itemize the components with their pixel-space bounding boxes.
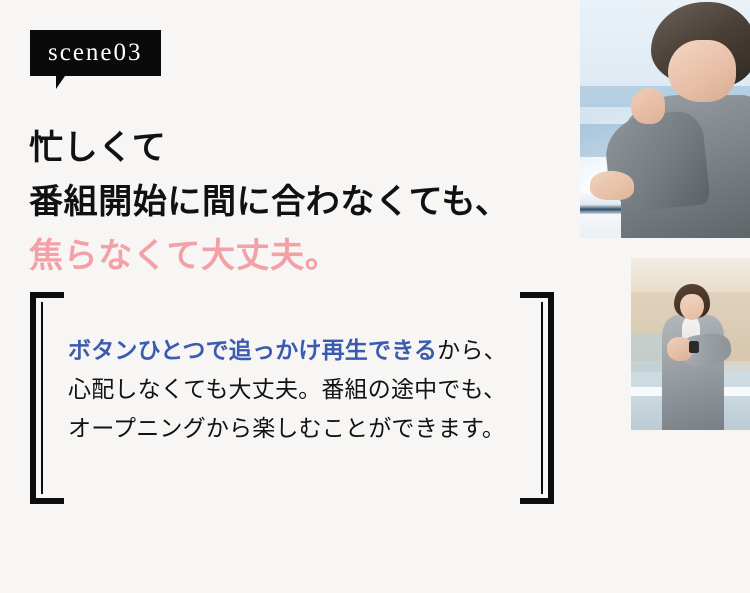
bracket-corner-bottom-left <box>30 498 64 504</box>
photo1-face <box>668 40 736 102</box>
scene-badge: scene03 <box>30 30 161 76</box>
bracket-corner-top-left <box>30 292 64 298</box>
bracket-corner-bottom-right <box>520 498 554 504</box>
body-bracket-frame: ボタンひとつで追っかけ再生できるから、心配しなくても大丈夫。番組の途中でも、オー… <box>30 292 554 504</box>
scene-section: scene03 忙しくて 番組開始に間に合わなくても、 焦らなくて大丈夫。 ボタ… <box>0 0 750 593</box>
bracket-left-bar <box>30 292 36 504</box>
photo2-face <box>680 294 704 320</box>
bracket-corner-top-right <box>520 292 554 298</box>
body-copy: ボタンひとつで追っかけ再生できるから、心配しなくても大丈夫。番組の途中でも、オー… <box>68 331 518 448</box>
photo1-hand-on-keyboard <box>590 171 634 200</box>
scene-badge-tail <box>56 76 72 89</box>
photo1-hand-raised <box>631 88 665 124</box>
headline-line-2: 番組開始に間に合わなくても、 <box>29 175 510 229</box>
scene-badge-label: scene03 <box>30 30 161 76</box>
bracket-right-bar <box>548 292 554 504</box>
bracket-left-hairline <box>41 302 43 494</box>
headline-line-3-accent: 焦らなくて大丈夫。 <box>29 229 510 283</box>
photo2-wristwatch <box>689 341 699 353</box>
headline-line-1: 忙しくて <box>29 121 510 175</box>
photo-woman-checking-watch <box>631 258 750 430</box>
headline: 忙しくて 番組開始に間に合わなくても、 焦らなくて大丈夫。 <box>29 121 510 283</box>
bracket-right-hairline <box>541 302 543 494</box>
photo-woman-at-laptop <box>580 0 750 238</box>
body-copy-highlight: ボタンひとつで追っかけ再生できる <box>68 337 437 363</box>
